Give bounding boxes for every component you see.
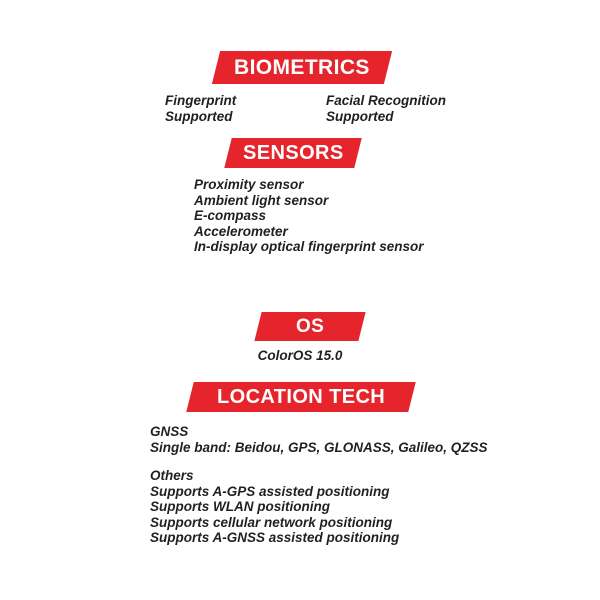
biometrics-fingerprint-title: Fingerprint bbox=[165, 93, 236, 109]
spec-sheet: BIOMETRICS Fingerprint Supported Facial … bbox=[0, 0, 600, 600]
section-banner-biometrics: BIOMETRICS bbox=[212, 51, 392, 84]
list-item: Supports A-GNSS assisted positioning bbox=[150, 530, 399, 546]
list-item: In-display optical fingerprint sensor bbox=[194, 239, 424, 255]
list-item: Proximity sensor bbox=[194, 177, 424, 193]
list-item: Supports cellular network positioning bbox=[150, 515, 399, 531]
location-others-group: Others Supports A-GPS assisted positioni… bbox=[150, 468, 399, 546]
list-item: E-compass bbox=[194, 208, 424, 224]
section-banner-sensors-label: SENSORS bbox=[243, 143, 344, 163]
section-banner-location-tech: LOCATION TECH bbox=[186, 382, 415, 412]
biometrics-fingerprint-column: Fingerprint Supported bbox=[165, 93, 236, 124]
section-banner-biometrics-label: BIOMETRICS bbox=[234, 57, 370, 78]
section-banner-sensors: SENSORS bbox=[224, 138, 361, 168]
section-banner-os-label: OS bbox=[296, 317, 324, 336]
section-banner-os: OS bbox=[254, 312, 365, 341]
list-item: Supports WLAN positioning bbox=[150, 499, 399, 515]
sensors-list: Proximity sensor Ambient light sensor E-… bbox=[194, 177, 424, 255]
biometrics-facial-recognition-value: Supported bbox=[326, 109, 446, 125]
location-gnss-detail: Single band: Beidou, GPS, GLONASS, Galil… bbox=[150, 440, 488, 456]
os-version-value: ColorOS 15.0 bbox=[0, 348, 600, 364]
biometrics-fingerprint-value: Supported bbox=[165, 109, 236, 125]
location-gnss-title: GNSS bbox=[150, 424, 488, 440]
biometrics-facial-recognition-title: Facial Recognition bbox=[326, 93, 446, 109]
section-banner-location-tech-label: LOCATION TECH bbox=[217, 387, 385, 407]
location-others-title: Others bbox=[150, 468, 399, 484]
list-item: Accelerometer bbox=[194, 224, 424, 240]
list-item: Ambient light sensor bbox=[194, 193, 424, 209]
location-gnss-group: GNSS Single band: Beidou, GPS, GLONASS, … bbox=[150, 424, 488, 455]
list-item: Supports A-GPS assisted positioning bbox=[150, 484, 399, 500]
biometrics-facial-recognition-column: Facial Recognition Supported bbox=[326, 93, 446, 124]
